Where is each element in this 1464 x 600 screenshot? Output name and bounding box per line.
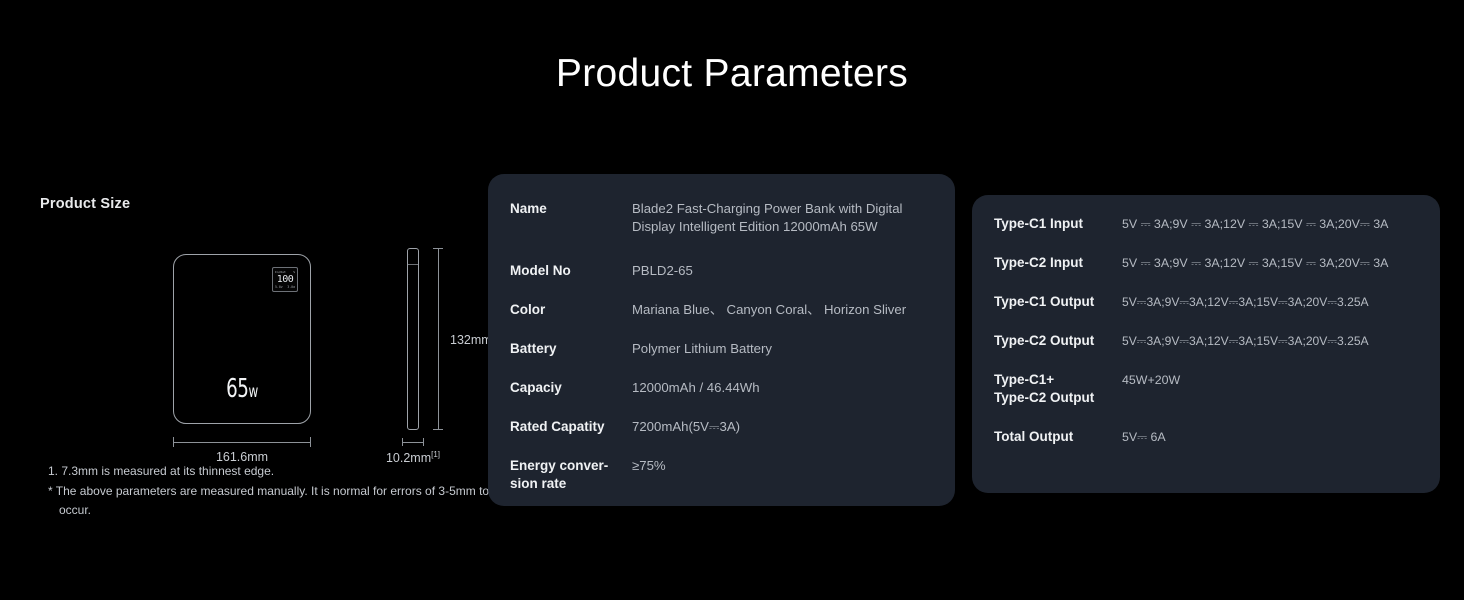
spec-label: Type-C1 Input bbox=[994, 215, 1122, 233]
spec-label: Model No bbox=[510, 262, 632, 280]
device-wattage-print: 65w bbox=[189, 376, 295, 405]
width-dimension-line bbox=[173, 437, 311, 447]
spec-row: Capaciy 12000mAh / 46.44Wh bbox=[488, 379, 955, 397]
spec-row: Color Mariana Blue、 Canyon Coral、 Horizo… bbox=[488, 301, 955, 319]
device-wattage-number: 65 bbox=[226, 374, 248, 404]
spec-value: 7200mAh(5V⎓3A) bbox=[632, 418, 933, 436]
spec-value: ≥75% bbox=[632, 457, 933, 475]
lcd-top-left-label: In/Out bbox=[275, 270, 286, 274]
spec-value: PBLD2-65 bbox=[632, 262, 933, 280]
spec-label: Type-C1 Output bbox=[994, 293, 1122, 311]
spec-row: Energy conver- sion rate ≥75% bbox=[488, 457, 955, 493]
thickness-dim-rule bbox=[402, 442, 424, 443]
lcd-bottom-left-label: 5.0v bbox=[275, 285, 283, 289]
spec-row: Type-C1 Output 5V⎓3A;9V⎓3A;12V⎓3A;15V⎓3A… bbox=[972, 293, 1440, 311]
spec-row: Type-C1+ Type-C2 Output 45W+20W bbox=[972, 371, 1440, 407]
height-dimension-label: 132mm bbox=[450, 333, 492, 347]
spec-row: Battery Polymer Lithium Battery bbox=[488, 340, 955, 358]
spec-label: Total Output bbox=[994, 428, 1122, 446]
lcd-bottom-row: 5.0v 3.0a bbox=[275, 285, 295, 289]
spec-value: 45W+20W bbox=[1122, 371, 1418, 389]
thickness-dim-cap-right bbox=[423, 438, 424, 446]
spec-row: Type-C2 Output 5V⎓3A;9V⎓3A;12V⎓3A;15V⎓3A… bbox=[972, 332, 1440, 350]
spec-row: Type-C1 Input 5V ⎓ 3A;9V ⎓ 3A;12V ⎓ 3A;1… bbox=[972, 215, 1440, 233]
device-lcd-screen: In/Out % 100 5.0v 3.0a bbox=[272, 267, 298, 292]
footnote-item: * The above parameters are measured manu… bbox=[48, 482, 498, 520]
spec-label: Type-C2 Output bbox=[994, 332, 1122, 350]
device-side-view bbox=[407, 248, 419, 430]
spec-label: Name bbox=[510, 200, 632, 218]
product-spec-card: Name Blade2 Fast-Charging Power Bank wit… bbox=[488, 174, 955, 506]
spec-value: 5V⎓3A;9V⎓3A;12V⎓3A;15V⎓3A;20V⎓3.25A bbox=[1122, 293, 1418, 311]
thickness-footnote-marker: [1] bbox=[431, 450, 440, 459]
width-dim-rule bbox=[173, 442, 311, 443]
height-dimension-line bbox=[433, 248, 443, 430]
spec-value: 5V ⎓ 3A;9V ⎓ 3A;12V ⎓ 3A;15V ⎓ 3A;20V⎓ 3… bbox=[1122, 215, 1418, 233]
product-size-heading: Product Size bbox=[40, 196, 480, 212]
spec-label: Battery bbox=[510, 340, 632, 358]
spec-row: Model No PBLD2-65 bbox=[488, 262, 955, 280]
height-dim-rule bbox=[438, 248, 439, 430]
spec-value: 5V⎓3A;9V⎓3A;12V⎓3A;15V⎓3A;20V⎓3.25A bbox=[1122, 332, 1418, 350]
spec-value: Mariana Blue、 Canyon Coral、 Horizon Sliv… bbox=[632, 301, 933, 319]
device-side-seam-line bbox=[408, 264, 418, 265]
footnote-list: 1. 7.3mm is measured at its thinnest edg… bbox=[48, 462, 498, 521]
device-illustration: In/Out % 100 5.0v 3.0a 65w 161.6mm bbox=[40, 222, 480, 462]
spec-label: Energy conver- sion rate bbox=[510, 457, 632, 493]
lcd-top-row: In/Out % bbox=[275, 270, 295, 274]
spec-value: 5V ⎓ 3A;9V ⎓ 3A;12V ⎓ 3A;15V ⎓ 3A;20V⎓ 3… bbox=[1122, 254, 1418, 272]
device-front-view: In/Out % 100 5.0v 3.0a 65w bbox=[173, 254, 311, 424]
height-dim-cap-bottom bbox=[433, 429, 443, 430]
thickness-dimension-line bbox=[402, 437, 424, 447]
device-wattage-unit: w bbox=[249, 382, 258, 402]
spec-label: Color bbox=[510, 301, 632, 319]
spec-label: Type-C1+ Type-C2 Output bbox=[994, 371, 1122, 407]
page-title: Product Parameters bbox=[0, 52, 1464, 96]
footnote-item: 1. 7.3mm is measured at its thinnest edg… bbox=[48, 462, 498, 481]
width-dim-cap-right bbox=[310, 437, 311, 447]
spec-value: 12000mAh / 46.44Wh bbox=[632, 379, 933, 397]
lcd-battery-percent: 100 bbox=[273, 274, 297, 285]
power-spec-card: Type-C1 Input 5V ⎓ 3A;9V ⎓ 3A;12V ⎓ 3A;1… bbox=[972, 195, 1440, 493]
spec-value: Blade2 Fast-Charging Power Bank with Dig… bbox=[632, 200, 933, 236]
lcd-bottom-right-label: 3.0a bbox=[287, 285, 295, 289]
spec-label: Type-C2 Input bbox=[994, 254, 1122, 272]
spec-row: Rated Capatity 7200mAh(5V⎓3A) bbox=[488, 418, 955, 436]
spec-value: Polymer Lithium Battery bbox=[632, 340, 933, 358]
lcd-top-right-label: % bbox=[293, 270, 295, 274]
product-size-section: Product Size In/Out % 100 5.0v 3.0a 65w bbox=[40, 196, 480, 516]
spec-row: Name Blade2 Fast-Charging Power Bank wit… bbox=[488, 200, 955, 236]
spec-value: 5V⎓ 6A bbox=[1122, 428, 1418, 446]
spec-label: Rated Capatity bbox=[510, 418, 632, 436]
spec-label: Capaciy bbox=[510, 379, 632, 397]
spec-row: Total Output 5V⎓ 6A bbox=[972, 428, 1440, 446]
spec-row: Type-C2 Input 5V ⎓ 3A;9V ⎓ 3A;12V ⎓ 3A;1… bbox=[972, 254, 1440, 272]
